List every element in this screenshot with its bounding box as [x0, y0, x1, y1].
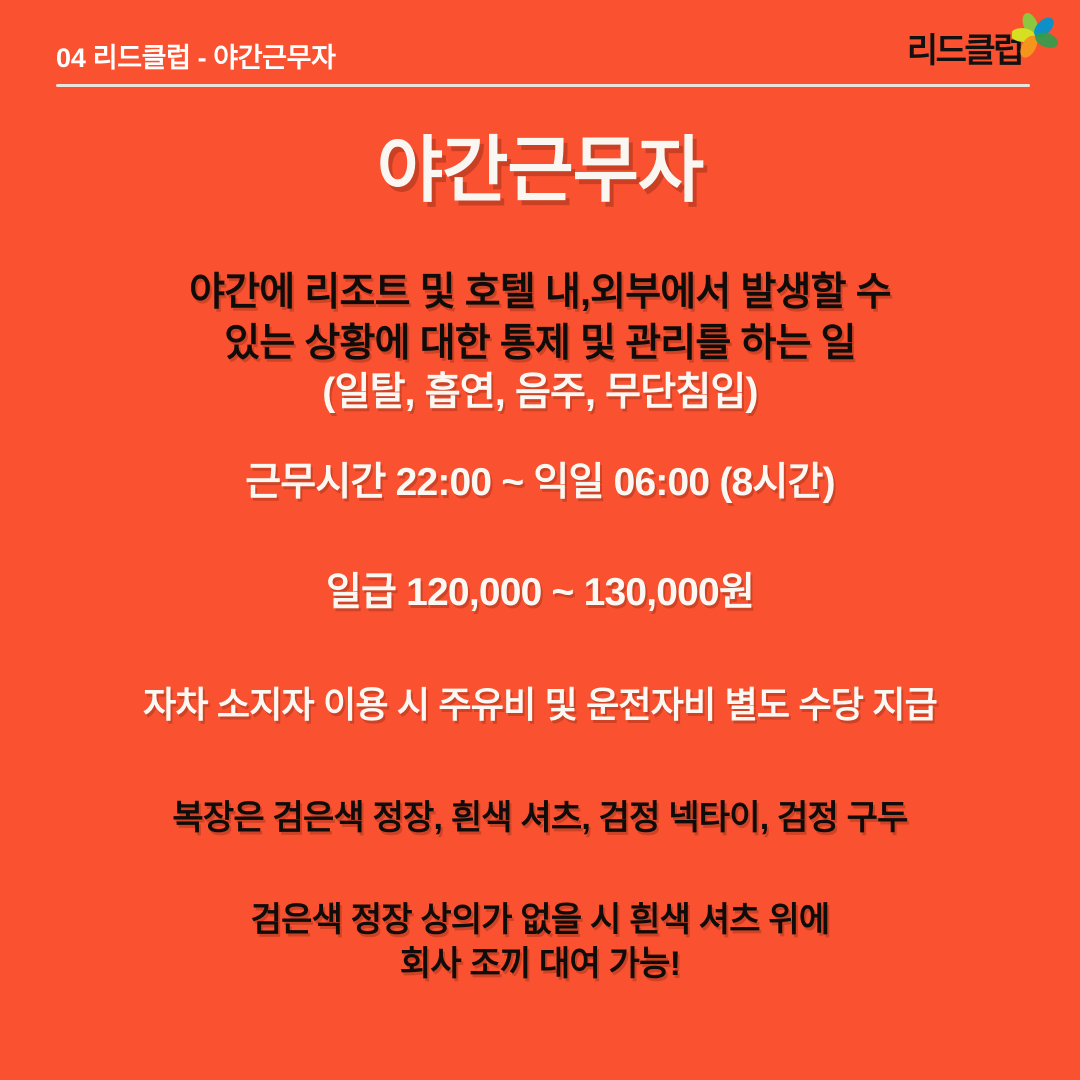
page-title: 야간근무자: [0, 134, 1080, 210]
work-hours-line: 근무시간 22:00 ~ 익일 06:00 (8시간): [0, 458, 1080, 509]
promo-card: 04 리드클럽 - 야간근무자 리드클럽 야간근무자: [0, 0, 1080, 1080]
card-header: 04 리드클럽 - 야간근무자 리드클럽: [0, 0, 1080, 95]
car-allowance-block: 자차 소지자 이용 시 주유비 및 운전자비 별도 수당 지급: [0, 682, 1080, 729]
dress-code-line: 복장은 검은색 정장, 흰색 셔츠, 검정 넥타이, 검정 구두: [0, 796, 1080, 840]
job-description-examples: (일탈, 흡연, 음주, 무단침입): [0, 368, 1080, 419]
brand-logo: 리드클럽: [886, 10, 1066, 80]
work-hours-block: 근무시간 22:00 ~ 익일 06:00 (8시간): [0, 458, 1080, 509]
pinwheel-flower-icon: [1012, 12, 1058, 58]
job-description-line-1: 야간에 리조트 및 호텔 내,외부에서 발생할 수: [0, 268, 1080, 319]
header-title-label: 리드클럽 - 야간근무자: [93, 43, 336, 73]
header-divider: [56, 84, 1030, 87]
brand-logo-text: 리드클럽: [907, 34, 1022, 68]
daily-pay-block: 일급 120,000 ~ 130,000원: [0, 568, 1080, 619]
job-description-line-2: 있는 상황에 대한 통제 및 관리를 하는 일: [0, 319, 1080, 370]
job-description-examples-line: (일탈, 흡연, 음주, 무단침입): [0, 368, 1080, 419]
header-number: 04: [56, 43, 86, 73]
header-title: 04 리드클럽 - 야간근무자: [56, 36, 336, 75]
vest-rental-line-1: 검은색 정장 상의가 없을 시 흰색 셔츠 위에: [0, 898, 1080, 942]
car-allowance-line: 자차 소지자 이용 시 주유비 및 운전자비 별도 수당 지급: [0, 682, 1080, 729]
dress-code-block: 복장은 검은색 정장, 흰색 셔츠, 검정 넥타이, 검정 구두: [0, 796, 1080, 840]
vest-rental-block: 검은색 정장 상의가 없을 시 흰색 셔츠 위에 회사 조끼 대여 가능!: [0, 898, 1080, 986]
job-description-block: 야간에 리조트 및 호텔 내,외부에서 발생할 수 있는 상황에 대한 통제 및…: [0, 268, 1080, 369]
vest-rental-line-2: 회사 조끼 대여 가능!: [0, 942, 1080, 986]
daily-pay-line: 일급 120,000 ~ 130,000원: [0, 568, 1080, 619]
